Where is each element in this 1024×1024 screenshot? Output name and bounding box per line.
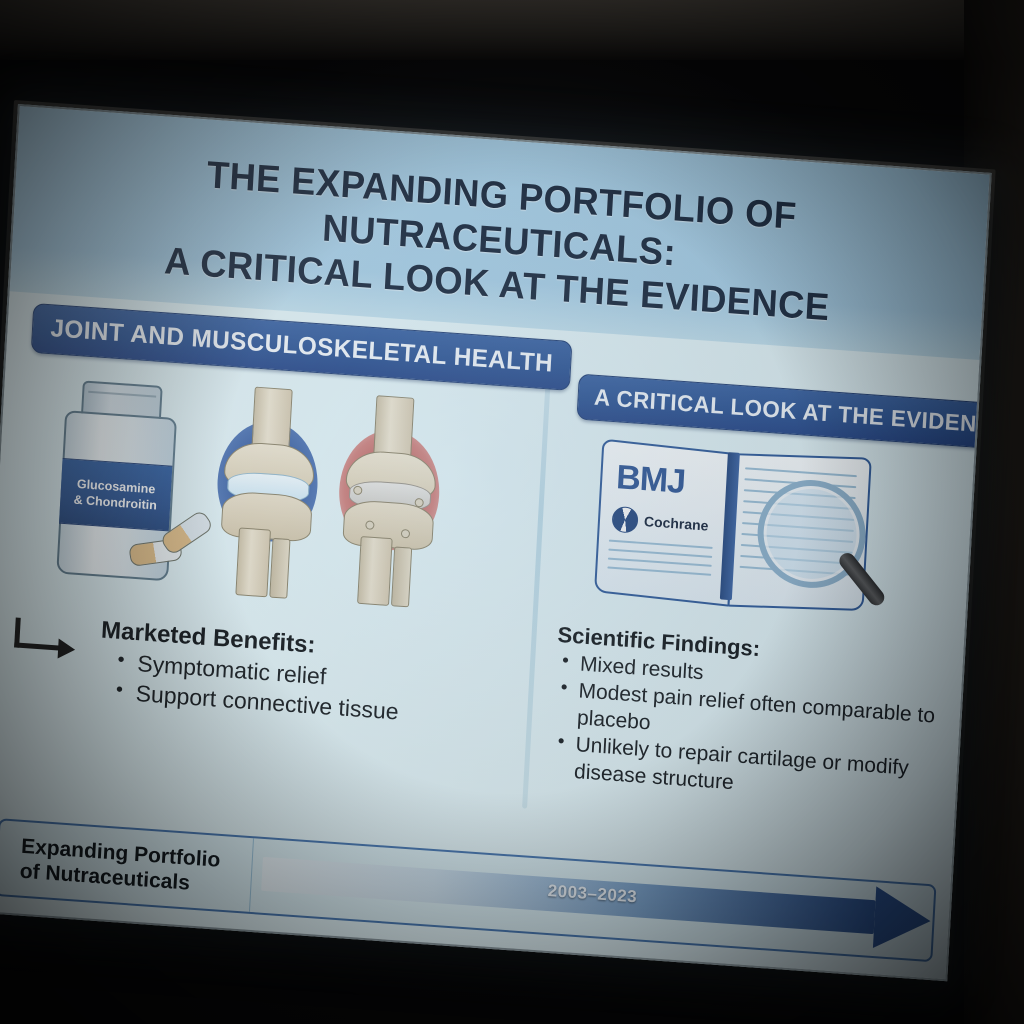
cochrane-mark-icon: [611, 506, 638, 534]
open-book-icon: BMJ Cochrane: [588, 435, 876, 620]
tibia-bone: [235, 527, 271, 597]
left-panel-illustrations: Glucosamine & Chondroitin: [9, 364, 519, 638]
fibula-bone: [269, 538, 290, 599]
left-panel: JOINT AND MUSCULOSKELETAL HEALTH Glucosa…: [0, 291, 536, 736]
right-panel: A CRITICAL LOOK AT THE EVIDENCE BMJ Coch…: [535, 330, 979, 813]
presentation-slide: THE EXPANDING PORTFOLIO OF NUTRACEUTICAL…: [0, 104, 992, 981]
book-text-lines-left: [607, 540, 713, 583]
bmj-logo: BMJ: [615, 458, 686, 502]
scientific-findings-list: Mixed results Modest pain relief often c…: [553, 650, 945, 811]
magnifying-glass-icon: [755, 476, 864, 587]
projection-screen-wrapper: THE EXPANDING PORTFOLIO OF NUTRACEUTICAL…: [0, 0, 1024, 1024]
footer-label: Expanding Portfolio of Nutraceuticals: [0, 820, 254, 912]
photo-of-projected-slide: THE EXPANDING PORTFOLIO OF NUTRACEUTICAL…: [0, 0, 1024, 1024]
tibia-bone: [357, 536, 393, 606]
elbow-arrow-icon: [14, 618, 80, 656]
healthy-knee-joint-icon: [205, 384, 328, 601]
bottle-label: Glucosamine & Chondroitin: [59, 458, 172, 531]
arthritic-knee-joint-icon: [327, 393, 450, 610]
cochrane-label: Cochrane: [644, 513, 709, 533]
slide-body: JOINT AND MUSCULOSKELETAL HEALTH Glucosa…: [0, 291, 979, 885]
right-panel-illustrations: BMJ Cochrane: [559, 433, 958, 640]
fibula-bone: [391, 546, 412, 607]
